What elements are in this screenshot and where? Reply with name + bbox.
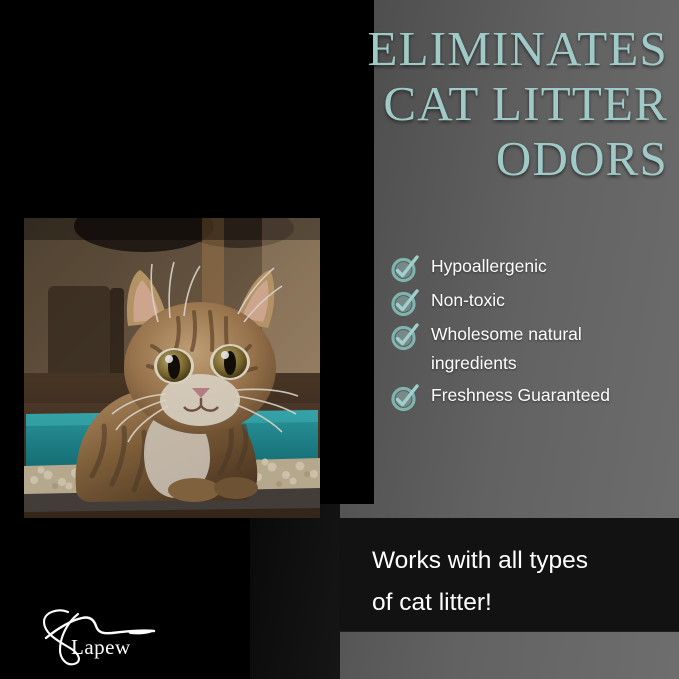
feature-label: Freshness Guaranteed [431,381,610,410]
check-circle-icon [390,382,420,412]
check-circle-icon [390,287,420,317]
brand-logo: Lapew [24,606,174,668]
logo-wordmark: Lapew [71,635,131,660]
list-item: Wholesome natural ingredients [390,320,675,378]
feature-label: Wholesome natural ingredients [431,320,666,378]
feature-list: Hypoallergenic Non-toxic Wholesome n [390,252,675,415]
headline-line-1: ELIMINATES [148,22,668,77]
list-item: Hypoallergenic [390,252,675,283]
callout-text: Works with all types of cat litter! [372,540,662,624]
kitten-in-litter-box-photo [24,218,320,518]
headline-line-3: ODORS [148,132,668,187]
headline: ELIMINATES CAT LITTER ODORS [148,22,668,187]
callout-line-1: Works with all types [372,540,662,582]
feature-label: Non-toxic [431,286,505,315]
list-item: Non-toxic [390,286,675,317]
feature-label: Hypoallergenic [431,252,547,281]
list-item: Freshness Guaranteed [390,381,675,412]
check-circle-icon [390,253,420,283]
product-ad-canvas: ELIMINATES CAT LITTER ODORS [0,0,679,679]
check-circle-icon [390,321,420,351]
headline-line-2: CAT LITTER [148,77,668,132]
callout-box: Works with all types of cat litter! [339,518,679,632]
callout-line-2: of cat litter! [372,582,662,624]
